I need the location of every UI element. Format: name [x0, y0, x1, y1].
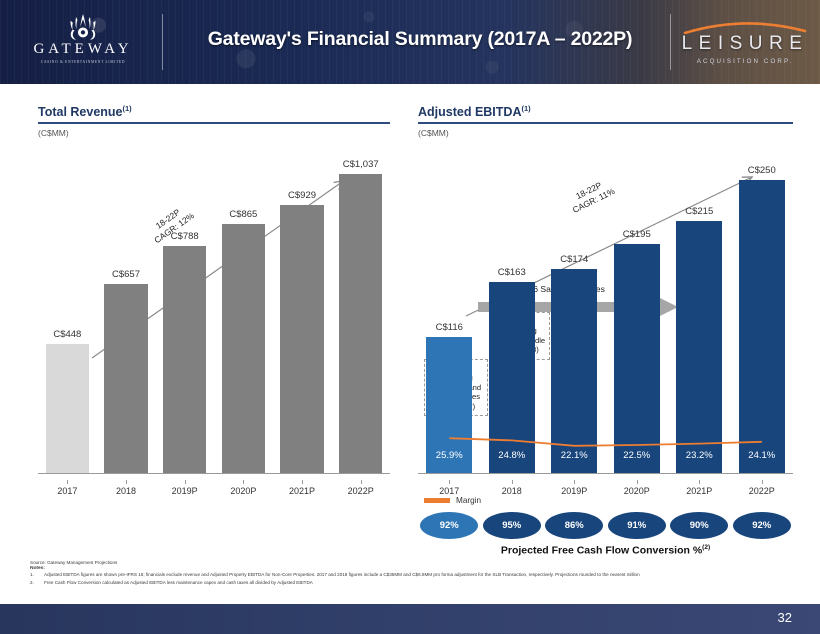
bar [280, 205, 323, 474]
adjusted-ebitda-rule [418, 122, 793, 124]
bar-value-label: C$163 [498, 267, 526, 278]
bar-group: C$19522.5% [606, 229, 669, 474]
bar: 24.8% [489, 282, 535, 474]
x-tick-label: 2020P [606, 480, 669, 496]
footnote-text: Free Cash Flow Conversion calculated as … [44, 580, 730, 587]
total-revenue-chart: 18-22P CAGR: 12% C$448C$657C$788C$865C$9… [38, 144, 390, 504]
x-tick-label: 2022P [331, 480, 390, 496]
x-tick: 2019P [543, 480, 606, 496]
bar-group: C$25024.1% [731, 165, 794, 474]
header-divider-right [670, 14, 671, 70]
x-tick-label: 2018 [481, 480, 544, 496]
x-tick-label: 2017 [418, 480, 481, 496]
fcf-cell: 95% [481, 512, 544, 539]
x-tick-label: 2020P [214, 480, 273, 496]
total-revenue-title-text: Total Revenue [38, 105, 123, 119]
margin-value-label: 25.9% [426, 450, 472, 461]
footnotes: Source: Gateway Management Projections N… [30, 560, 730, 586]
bar-group: C$11625.9% [418, 322, 481, 474]
x-tick-label: 2021P [668, 480, 731, 496]
bar-group: C$657 [97, 269, 156, 474]
total-revenue-panel: Total Revenue(1) (C$MM) 18-22P CAGR: 12%… [38, 104, 390, 504]
bar-value-label: C$865 [229, 209, 257, 220]
fcf-caption-footnote: (2) [702, 544, 710, 551]
x-tick: 2018 [97, 480, 156, 496]
margin-value-label: 24.1% [739, 450, 785, 461]
total-revenue-title: Total Revenue(1) [38, 104, 390, 119]
page-number: 32 [778, 610, 792, 625]
bar-group: C$788 [155, 231, 214, 474]
footnote-source: Source: Gateway Management Projections [30, 560, 730, 565]
footnote-text: Adjusted EBITDA figures are shown pre-IF… [44, 572, 730, 579]
x-tick: 2021P [668, 480, 731, 496]
footnote-number: 1. [30, 572, 44, 579]
x-tick: 2020P [606, 480, 669, 496]
bar-value-label: C$448 [53, 329, 81, 340]
leisure-acquisition-logo: LEISURE ACQUISITION CORP. [678, 18, 812, 65]
x-tick-label: 2018 [97, 480, 156, 496]
margin-legend: Margin [424, 496, 481, 505]
margin-value-label: 22.5% [614, 450, 660, 461]
x-tick: 2021P [273, 480, 332, 496]
footnote-list: 1.Adjusted EBITDA figures are shown pre-… [30, 572, 730, 586]
margin-value-label: 24.8% [489, 450, 535, 461]
margin-value-label: 22.1% [551, 450, 597, 461]
footnote-item: 1.Adjusted EBITDA figures are shown pre-… [30, 572, 730, 579]
fcf-badge: 95% [483, 512, 541, 539]
fcf-badge: 92% [420, 512, 478, 539]
fcf-caption-text: Projected Free Cash Flow Conversion % [501, 545, 702, 557]
orange-arc-icon [683, 18, 807, 34]
x-tick: 2022P [331, 480, 390, 496]
total-revenue-rule [38, 122, 390, 124]
leisure-logo-sub: ACQUISITION CORP. [678, 58, 812, 65]
slide: GATEWAY CASINO & ENTERTAINMENT LIMITED G… [0, 0, 820, 634]
margin-legend-label: Margin [456, 496, 481, 505]
total-revenue-units: (C$MM) [38, 128, 390, 138]
bar: 25.9% [426, 337, 472, 474]
fcf-conversion-row: 92%95%86%91%90%92% [418, 512, 793, 539]
gateway-logo: GATEWAY CASINO & ENTERTAINMENT LIMITED [22, 14, 144, 64]
fcf-cell: 91% [606, 512, 669, 539]
x-tick-label: 2019P [543, 480, 606, 496]
fcf-cell: 92% [731, 512, 794, 539]
bar-group: C$16324.8% [481, 267, 544, 474]
gateway-logo-name: GATEWAY [22, 42, 144, 57]
bar: 22.1% [551, 269, 597, 474]
fcf-badge: 91% [608, 512, 666, 539]
bar-value-label: C$250 [748, 165, 776, 176]
bar-value-label: C$929 [288, 190, 316, 201]
bar: 22.5% [614, 244, 660, 474]
ebitda-bars: C$11625.9%C$16324.8%C$17422.1%C$19522.5%… [418, 144, 793, 474]
revenue-bars: C$448C$657C$788C$865C$929C$1,037 [38, 144, 390, 474]
x-tick-label: 2021P [273, 480, 332, 496]
gateway-logo-tagline: CASINO & ENTERTAINMENT LIMITED [22, 60, 144, 64]
revenue-x-tick-labels: 201720182019P2020P2021P2022P [38, 480, 390, 496]
bar-value-label: C$657 [112, 269, 140, 280]
total-revenue-title-footnote: (1) [123, 104, 132, 113]
x-tick: 2020P [214, 480, 273, 496]
bar [46, 344, 89, 474]
bar-group: C$21523.2% [668, 206, 731, 474]
fcf-cell: 90% [668, 512, 731, 539]
footnote-notes-heading: Notes: [30, 566, 730, 571]
bar-value-label: C$788 [171, 231, 199, 242]
fcf-cell: 86% [543, 512, 606, 539]
adjusted-ebitda-title-text: Adjusted EBITDA [418, 105, 521, 119]
slide-footer: 32 [0, 604, 820, 634]
bar-value-label: C$1,037 [343, 159, 379, 170]
page-title: Gateway's Financial Summary (2017A – 202… [180, 28, 660, 51]
footnote-number: 2. [30, 580, 44, 587]
revenue-x-axis [38, 473, 390, 474]
bar-group: C$448 [38, 329, 97, 474]
bar-value-label: C$174 [560, 254, 588, 265]
bar [222, 224, 265, 474]
bar-group: C$929 [273, 190, 332, 474]
fcf-badge: 90% [670, 512, 728, 539]
ebitda-x-tick-labels: 201720182019P2020P2021P2022P [418, 480, 793, 496]
bar-group: C$865 [214, 209, 273, 474]
x-tick: 2018 [481, 480, 544, 496]
bar: 23.2% [676, 221, 722, 474]
x-tick: 2022P [731, 480, 794, 496]
bar-value-label: C$116 [436, 322, 463, 333]
slide-header: GATEWAY CASINO & ENTERTAINMENT LIMITED G… [0, 0, 820, 84]
adjusted-ebitda-units: (C$MM) [418, 128, 793, 138]
leisure-logo-name: LEISURE [678, 34, 812, 55]
crown-icon [60, 14, 106, 40]
bar-group: C$17422.1% [543, 254, 606, 474]
fcf-conversion-caption: Projected Free Cash Flow Conversion %(2) [418, 544, 793, 557]
margin-legend-swatch [424, 498, 450, 503]
x-tick-label: 2017 [38, 480, 97, 496]
x-tick-label: 2019P [155, 480, 214, 496]
bar [104, 284, 147, 474]
fcf-cell: 92% [418, 512, 481, 539]
bar [163, 246, 206, 474]
fcf-badge: 92% [733, 512, 791, 539]
header-divider-left [162, 14, 163, 70]
fcf-badge: 86% [545, 512, 603, 539]
x-tick: 2019P [155, 480, 214, 496]
x-tick: 2017 [38, 480, 97, 496]
adjusted-ebitda-title: Adjusted EBITDA(1) [418, 104, 793, 119]
adjusted-ebitda-panel: Adjusted EBITDA(1) (C$MM) 18-22P CAGR: 1… [418, 104, 793, 504]
adjusted-ebitda-title-footnote: (1) [521, 104, 530, 113]
x-tick-label: 2022P [731, 480, 794, 496]
x-tick: 2017 [418, 480, 481, 496]
bar: 24.1% [739, 180, 785, 474]
adjusted-ebitda-chart: 18-22P CAGR: 11% Day 366 Saving Initiati… [418, 144, 793, 504]
bar [339, 174, 382, 474]
bar-value-label: C$195 [623, 229, 651, 240]
ebitda-x-axis [418, 473, 793, 474]
bar-group: C$1,037 [331, 159, 390, 474]
margin-value-label: 23.2% [676, 450, 722, 461]
bar-value-label: C$215 [685, 206, 713, 217]
footnote-item: 2.Free Cash Flow Conversion calculated a… [30, 580, 730, 587]
